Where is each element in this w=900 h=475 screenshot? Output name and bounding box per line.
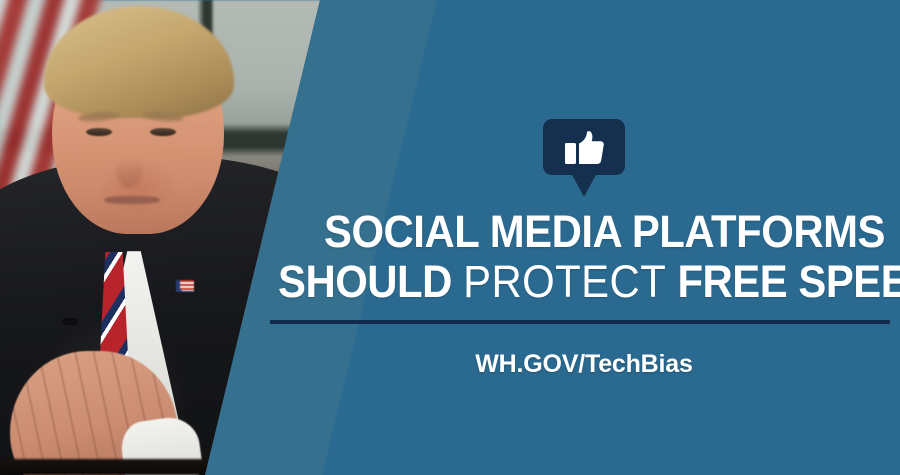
thumbs-up-icon: [565, 131, 605, 165]
headline-line-2-prefix: SHOULD: [278, 256, 463, 307]
headline-line-2: SHOULD PROTECT FREE SPEECH: [278, 260, 849, 304]
nose-shape: [116, 140, 142, 188]
headline-line-2-suffix: FREE SPEECH: [666, 256, 900, 307]
promo-graphic: SOCIAL MEDIA PLATFORMS SHOULD PROTECT FR…: [0, 0, 900, 475]
url-text: WH.GOV/TechBias: [278, 350, 890, 379]
mouth-shape: [104, 196, 160, 204]
headline-emphasis-protect: PROTECT: [463, 256, 666, 307]
eye-right: [150, 128, 176, 136]
headline: SOCIAL MEDIA PLATFORMS SHOULD PROTECT FR…: [278, 210, 892, 304]
headline-line-1: SOCIAL MEDIA PLATFORMS: [324, 210, 852, 254]
american-flag-pin-icon: [176, 280, 194, 292]
horizontal-divider: [270, 320, 890, 324]
speech-bubble-tail: [570, 171, 598, 197]
lavalier-mic-icon: [62, 318, 78, 325]
thumbs-up-badge: [543, 119, 625, 197]
eye-left: [86, 128, 112, 136]
